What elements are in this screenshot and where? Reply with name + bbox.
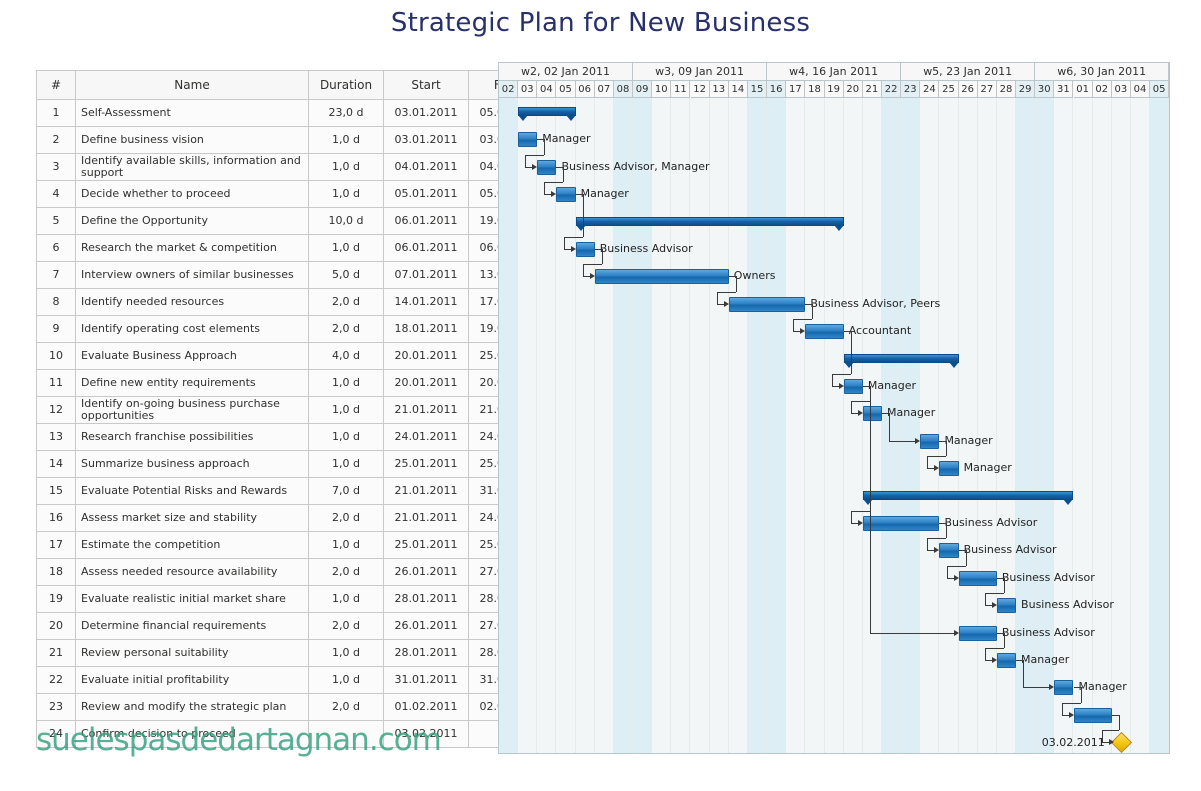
dependency-link — [583, 276, 590, 277]
table-row[interactable]: 8Identify needed resources2,0 d14.01.201… — [37, 289, 554, 316]
bar-resource-label: Business Advisor — [944, 517, 1037, 529]
day-column — [1131, 98, 1150, 753]
dependency-arrow — [1109, 739, 1114, 745]
row-task-name: Identify needed resources — [76, 289, 309, 316]
table-row[interactable]: 20Determine financial requirements2,0 d2… — [37, 613, 554, 640]
row-duration: 2,0 d — [309, 316, 384, 343]
dependency-arrow — [1049, 684, 1054, 690]
row-task-name: Define business vision — [76, 127, 309, 154]
gantt-task-bar[interactable] — [805, 324, 843, 339]
row-duration: 1,0 d — [309, 586, 384, 613]
row-number: 11 — [37, 370, 76, 397]
dependency-link — [985, 605, 992, 606]
gantt-task-bar[interactable] — [556, 187, 575, 202]
row-start: 05.01.2011 — [384, 181, 469, 208]
week-header-cell: w5, 23 Jan 2011 — [901, 63, 1035, 81]
dependency-link — [1062, 703, 1081, 704]
day-header-cell: 04 — [1131, 81, 1150, 98]
day-header-cell: 10 — [652, 81, 671, 98]
gantt-task-bar[interactable] — [595, 269, 729, 284]
dependency-arrow — [934, 547, 939, 553]
dependency-arrow — [992, 602, 997, 608]
day-column — [939, 98, 958, 753]
table-row[interactable]: 21Review personal suitability1,0 d28.01.… — [37, 640, 554, 667]
day-header-cell: 27 — [978, 81, 997, 98]
day-header-cell: 05 — [556, 81, 575, 98]
gantt-task-bar[interactable] — [844, 379, 863, 394]
dependency-link — [851, 401, 870, 402]
dependency-link — [595, 249, 602, 250]
bar-resource-label: Business Advisor — [600, 243, 693, 255]
gantt-task-bar[interactable] — [959, 626, 997, 641]
dependency-link — [851, 511, 852, 523]
row-duration: 5,0 d — [309, 262, 384, 289]
watermark: suelespasdedartagnan.com — [36, 722, 441, 758]
row-number: 21 — [37, 640, 76, 667]
dependency-link — [717, 304, 724, 305]
day-column — [863, 98, 882, 753]
bar-resource-label: Accountant — [849, 325, 911, 337]
dependency-link — [947, 578, 954, 579]
day-header-cell: 06 — [576, 81, 595, 98]
dependency-link — [544, 139, 545, 154]
gantt-task-bar[interactable] — [1054, 680, 1073, 695]
day-column — [920, 98, 939, 753]
row-number: 22 — [37, 667, 76, 694]
day-header-cell: 21 — [863, 81, 882, 98]
table-row[interactable]: 13Research franchise possibilities1,0 d2… — [37, 424, 554, 451]
bar-resource-label: Manager — [944, 435, 992, 447]
dependency-link — [851, 331, 852, 374]
bar-resource-label: Manager — [581, 188, 629, 200]
gantt-summary-bar[interactable] — [863, 491, 1074, 500]
gantt-task-bar[interactable] — [863, 516, 940, 531]
row-number: 9 — [37, 316, 76, 343]
row-task-name: Evaluate initial profitability — [76, 667, 309, 694]
dependency-link — [1004, 633, 1005, 648]
dependency-link — [832, 386, 839, 387]
day-column — [633, 98, 652, 753]
dependency-arrow — [800, 328, 805, 334]
dependency-link — [717, 292, 718, 304]
row-start: 06.01.2011 — [384, 208, 469, 235]
dependency-link — [525, 167, 532, 168]
dependency-link — [889, 413, 890, 440]
row-task-name: Evaluate Potential Risks and Rewards — [76, 478, 309, 505]
dependency-link — [947, 566, 948, 578]
row-task-name: Review personal suitability — [76, 640, 309, 667]
table-row[interactable]: 5Define the Opportunity10,0 d06.01.20111… — [37, 208, 554, 235]
dependency-link — [1119, 715, 1120, 730]
row-duration: 1,0 d — [309, 127, 384, 154]
bar-resource-label: Manager — [887, 407, 935, 419]
day-header-cell: 30 — [1035, 81, 1054, 98]
table-row[interactable]: 4Decide whether to proceed1,0 d05.01.201… — [37, 181, 554, 208]
dependency-link — [851, 523, 858, 524]
row-task-name: Assess market size and stability — [76, 505, 309, 532]
day-column — [671, 98, 690, 753]
bar-resource-label: Owners — [734, 270, 776, 282]
dependency-link — [959, 550, 966, 551]
dependency-link — [717, 292, 736, 293]
row-task-name: Assess needed resource availability — [76, 559, 309, 586]
dependency-link — [927, 456, 928, 468]
column-header-name: Name — [76, 71, 309, 100]
dependency-link — [1102, 730, 1103, 742]
dependency-link — [1023, 687, 1049, 688]
day-header-cell: 25 — [939, 81, 958, 98]
dependency-link — [939, 441, 946, 442]
table-row[interactable]: 17Estimate the competition1,0 d25.01.201… — [37, 532, 554, 559]
day-header-cell: 08 — [614, 81, 633, 98]
dependency-link — [602, 249, 603, 264]
row-number: 8 — [37, 289, 76, 316]
day-header-cell: 15 — [748, 81, 767, 98]
dependency-link — [1112, 715, 1119, 716]
table-row[interactable]: 10Evaluate Business Approach4,0 d20.01.2… — [37, 343, 554, 370]
day-header-cell: 12 — [691, 81, 710, 98]
day-column — [1150, 98, 1169, 753]
dependency-link — [844, 331, 851, 332]
day-header-cell: 31 — [1054, 81, 1073, 98]
dependency-link — [1016, 660, 1023, 661]
table-row[interactable]: 11Define new entity requirements1,0 d20.… — [37, 370, 554, 397]
dependency-link — [1074, 687, 1081, 688]
gantt-task-bar[interactable] — [729, 297, 806, 312]
row-duration: 1,0 d — [309, 370, 384, 397]
row-start: 28.01.2011 — [384, 586, 469, 613]
row-number: 6 — [37, 235, 76, 262]
table-row[interactable]: 22Evaluate initial profitability1,0 d31.… — [37, 667, 554, 694]
dependency-link — [851, 401, 852, 413]
row-number: 10 — [37, 343, 76, 370]
day-column — [825, 98, 844, 753]
row-start: 21.01.2011 — [384, 397, 469, 424]
dependency-link — [870, 386, 871, 633]
row-number: 14 — [37, 451, 76, 478]
row-task-name: Summarize business approach — [76, 451, 309, 478]
dependency-link — [832, 374, 833, 386]
gantt-task-bar[interactable] — [939, 461, 958, 476]
row-task-name: Estimate the competition — [76, 532, 309, 559]
day-column — [1074, 98, 1093, 753]
gantt-summary-bar[interactable] — [844, 354, 959, 363]
bar-resource-label: Manager — [964, 462, 1012, 474]
row-duration: 23,0 d — [309, 100, 384, 127]
gantt-task-bar[interactable] — [997, 598, 1016, 613]
page-title: Strategic Plan for New Business — [0, 8, 1201, 38]
table-row[interactable]: 18Assess needed resource availability2,0… — [37, 559, 554, 586]
day-column — [1093, 98, 1112, 753]
table-row[interactable]: 1Self-Assessment23,0 d03.01.201105.01.20… — [37, 100, 554, 127]
row-number: 23 — [37, 694, 76, 721]
dependency-link — [583, 194, 584, 237]
bar-resource-label: Manager — [542, 133, 590, 145]
row-duration: 1,0 d — [309, 424, 384, 451]
column-header-duration: Duration — [309, 71, 384, 100]
row-start: 28.01.2011 — [384, 640, 469, 667]
day-column — [652, 98, 671, 753]
milestone-label: 03.02.2011 — [1042, 736, 1105, 749]
row-task-name: Evaluate Business Approach — [76, 343, 309, 370]
row-task-name: Define new entity requirements — [76, 370, 309, 397]
table-row[interactable]: 2Define business vision1,0 d03.01.201103… — [37, 127, 554, 154]
row-task-name: Define the Opportunity — [76, 208, 309, 235]
row-task-name: Identify available skills, information a… — [76, 154, 309, 181]
dependency-link — [544, 194, 551, 195]
day-header-cell: 03 — [518, 81, 537, 98]
day-column — [959, 98, 978, 753]
gantt-task-bar[interactable] — [1074, 708, 1112, 723]
dependency-link — [927, 538, 946, 539]
dependency-arrow — [858, 410, 863, 416]
day-header-cell: 18 — [805, 81, 824, 98]
week-header-cell: w2, 02 Jan 2011 — [499, 63, 633, 81]
row-task-name: Interview owners of similar businesses — [76, 262, 309, 289]
row-number: 13 — [37, 424, 76, 451]
table-row[interactable]: 23Review and modify the strategic plan2,… — [37, 694, 554, 721]
row-duration: 1,0 d — [309, 235, 384, 262]
row-number: 18 — [37, 559, 76, 586]
dependency-arrow — [839, 383, 844, 389]
dependency-link — [537, 139, 544, 140]
dependency-link — [583, 264, 602, 265]
week-header-cell: w4, 16 Jan 2011 — [767, 63, 901, 81]
row-number: 3 — [37, 154, 76, 181]
table-row[interactable]: 9Identify operating cost elements2,0 d18… — [37, 316, 554, 343]
row-start: 26.01.2011 — [384, 559, 469, 586]
dependency-arrow — [1069, 712, 1074, 718]
dependency-link — [851, 413, 858, 414]
row-duration: 1,0 d — [309, 451, 384, 478]
dependency-arrow — [590, 273, 595, 279]
row-number: 16 — [37, 505, 76, 532]
day-header-cell: 16 — [767, 81, 786, 98]
dependency-arrow — [724, 301, 729, 307]
bar-resource-label: Manager — [1079, 681, 1127, 693]
dependency-link — [1102, 730, 1119, 731]
row-task-name: Identify operating cost elements — [76, 316, 309, 343]
dependency-link — [583, 264, 584, 276]
table-header-row: # Name Duration Start Finish — [37, 71, 554, 100]
dependency-link — [556, 167, 563, 168]
dependency-arrow — [915, 438, 920, 444]
dependency-link — [985, 648, 1004, 649]
row-number: 20 — [37, 613, 76, 640]
dependency-link — [1081, 687, 1082, 702]
dependency-link — [793, 331, 800, 332]
day-header-cell: 24 — [920, 81, 939, 98]
row-start: 14.01.2011 — [384, 289, 469, 316]
dependency-link — [805, 304, 812, 305]
dependency-link — [1102, 742, 1109, 743]
row-start: 21.01.2011 — [384, 478, 469, 505]
dependency-link — [927, 550, 934, 551]
day-header-cell: 29 — [1016, 81, 1035, 98]
timeline-week-header: w2, 02 Jan 2011w3, 09 Jan 2011w4, 16 Jan… — [499, 63, 1169, 81]
table-row[interactable]: 14Summarize business approach1,0 d25.01.… — [37, 451, 554, 478]
bar-resource-label: Business Advisor, Manager — [561, 161, 709, 173]
bar-resource-label: Business Advisor — [1021, 599, 1114, 611]
dependency-link — [812, 304, 813, 319]
dependency-link — [997, 578, 1004, 579]
row-duration: 10,0 d — [309, 208, 384, 235]
row-duration: 2,0 d — [309, 289, 384, 316]
day-header-cell: 02 — [499, 81, 518, 98]
row-number: 4 — [37, 181, 76, 208]
gantt-timeline[interactable]: w2, 02 Jan 2011w3, 09 Jan 2011w4, 16 Jan… — [498, 62, 1170, 754]
row-number: 1 — [37, 100, 76, 127]
dependency-link — [985, 593, 1004, 594]
dependency-arrow — [551, 191, 556, 197]
dependency-arrow — [934, 465, 939, 471]
week-header-cell: w3, 09 Jan 2011 — [633, 63, 767, 81]
table-row[interactable]: 6Research the market & competition1,0 d0… — [37, 235, 554, 262]
timeline-day-header: 0203040506070809101112131415161718192021… — [499, 81, 1169, 98]
dependency-link — [525, 155, 544, 156]
row-start: 20.01.2011 — [384, 370, 469, 397]
dependency-link — [966, 550, 967, 565]
day-header-cell: 17 — [786, 81, 805, 98]
day-header-cell: 13 — [710, 81, 729, 98]
day-column — [978, 98, 997, 753]
day-column — [901, 98, 920, 753]
row-task-name: Research the market & competition — [76, 235, 309, 262]
dependency-link — [985, 593, 986, 605]
row-number: 12 — [37, 397, 76, 424]
row-duration: 2,0 d — [309, 559, 384, 586]
gantt-task-bar[interactable] — [576, 242, 595, 257]
row-start: 03.01.2011 — [384, 127, 469, 154]
day-column — [748, 98, 767, 753]
day-column — [1112, 98, 1131, 753]
row-duration: 1,0 d — [309, 397, 384, 424]
day-column — [499, 98, 518, 753]
row-number: 5 — [37, 208, 76, 235]
gantt-task-bar[interactable] — [518, 132, 537, 147]
dependency-link — [985, 648, 986, 660]
row-task-name: Decide whether to proceed — [76, 181, 309, 208]
gantt-summary-bar[interactable] — [576, 217, 844, 226]
dependency-arrow — [954, 630, 959, 636]
day-header-cell: 02 — [1093, 81, 1112, 98]
row-duration: 1,0 d — [309, 667, 384, 694]
day-column — [844, 98, 863, 753]
dependency-link — [544, 182, 563, 183]
row-duration: 7,0 d — [309, 478, 384, 505]
dependency-link — [564, 237, 583, 238]
dependency-link — [1062, 715, 1069, 716]
day-header-cell: 20 — [844, 81, 863, 98]
day-column — [729, 98, 748, 753]
row-start: 20.01.2011 — [384, 343, 469, 370]
row-duration: 2,0 d — [309, 694, 384, 721]
bar-resource-label: Business Advisor — [1002, 572, 1095, 584]
row-task-name: Review and modify the strategic plan — [76, 694, 309, 721]
row-start: 24.01.2011 — [384, 424, 469, 451]
dependency-link — [544, 182, 545, 194]
task-table: # Name Duration Start Finish 1Self-Asses… — [36, 70, 554, 748]
row-start: 31.01.2011 — [384, 667, 469, 694]
table-row[interactable]: 19Evaluate realistic initial market shar… — [37, 586, 554, 613]
day-header-cell: 28 — [997, 81, 1016, 98]
day-column — [805, 98, 824, 753]
row-number: 19 — [37, 586, 76, 613]
row-number: 15 — [37, 478, 76, 505]
row-start: 03.01.2011 — [384, 100, 469, 127]
day-header-cell: 07 — [595, 81, 614, 98]
dependency-link — [946, 523, 947, 538]
day-column — [691, 98, 710, 753]
day-header-cell: 19 — [825, 81, 844, 98]
column-header-number: # — [37, 71, 76, 100]
day-header-cell: 09 — [633, 81, 652, 98]
gantt-task-bar[interactable] — [939, 543, 958, 558]
gantt-task-bar[interactable] — [537, 160, 556, 175]
dependency-link — [793, 319, 794, 331]
gantt-task-bar[interactable] — [959, 571, 997, 586]
dependency-arrow — [858, 520, 863, 526]
row-duration: 1,0 d — [309, 181, 384, 208]
bar-resource-label: Manager — [868, 380, 916, 392]
table-row[interactable]: 3Identify available skills, information … — [37, 154, 554, 181]
bar-resource-label: Business Advisor — [964, 544, 1057, 556]
day-header-cell: 11 — [671, 81, 690, 98]
column-header-start: Start — [384, 71, 469, 100]
dependency-link — [939, 523, 946, 524]
dependency-link — [985, 660, 992, 661]
bar-resource-label: Business Advisor, Peers — [810, 298, 940, 310]
dependency-link — [946, 441, 947, 456]
row-start: 06.01.2011 — [384, 235, 469, 262]
table-row[interactable]: 16Assess market size and stability2,0 d2… — [37, 505, 554, 532]
row-task-name: Self-Assessment — [76, 100, 309, 127]
row-number: 2 — [37, 127, 76, 154]
row-number: 7 — [37, 262, 76, 289]
day-column — [518, 98, 537, 753]
day-header-cell: 22 — [882, 81, 901, 98]
gantt-task-bar[interactable] — [863, 406, 882, 421]
gantt-summary-bar[interactable] — [518, 107, 575, 116]
row-duration: 1,0 d — [309, 154, 384, 181]
gantt-task-bar[interactable] — [920, 434, 939, 449]
row-task-name: Determine financial requirements — [76, 613, 309, 640]
row-duration: 1,0 d — [309, 532, 384, 559]
dependency-arrow — [992, 657, 997, 663]
row-duration: 1,0 d — [309, 640, 384, 667]
dependency-link — [1023, 660, 1024, 687]
gantt-task-bar[interactable] — [997, 653, 1016, 668]
dependency-link — [851, 511, 870, 512]
table-row[interactable]: 15Evaluate Potential Risks and Rewards7,… — [37, 478, 554, 505]
day-column — [710, 98, 729, 753]
day-header-cell: 26 — [959, 81, 978, 98]
dependency-link — [576, 194, 583, 195]
dependency-link — [947, 566, 966, 567]
table-row[interactable]: 12Identify on-going business purchase op… — [37, 397, 554, 424]
timeline-canvas[interactable]: ManagerBusiness Advisor, ManagerManagerB… — [499, 98, 1169, 753]
dependency-link — [882, 413, 889, 414]
dependency-arrow — [532, 164, 537, 170]
dependency-link — [736, 276, 737, 291]
dependency-link — [997, 633, 1004, 634]
day-header-cell: 03 — [1112, 81, 1131, 98]
table-row[interactable]: 7Interview owners of similar businesses5… — [37, 262, 554, 289]
dependency-link — [1004, 578, 1005, 593]
dependency-link — [889, 441, 915, 442]
row-task-name: Research franchise possibilities — [76, 424, 309, 451]
dependency-link — [927, 538, 928, 550]
